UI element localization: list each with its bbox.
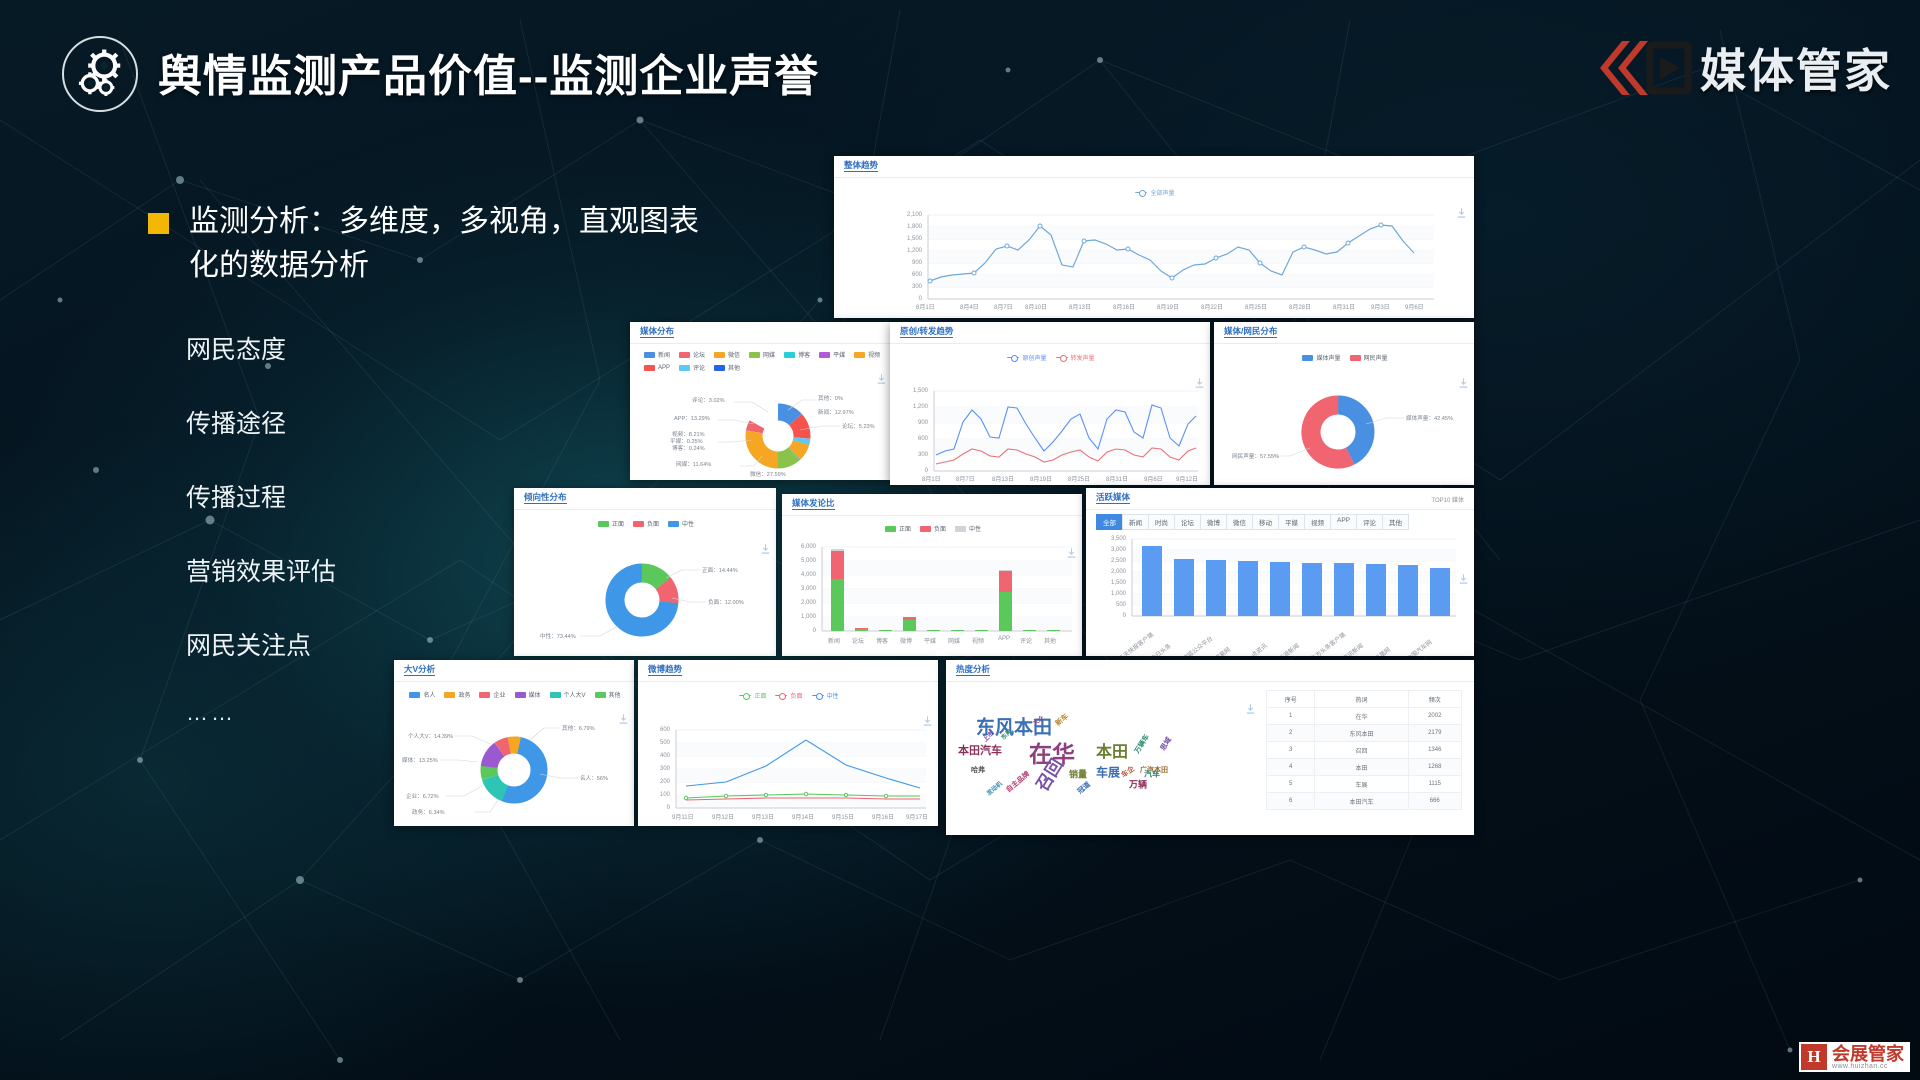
card-header: 活跃媒体 TOP10 媒体: [1086, 488, 1474, 510]
card-original-repost-trend: 原创/转发趋势 原创声量 转发声量 1,500 1,200 900 600 30…: [890, 322, 1210, 485]
hotword-table-wrap[interactable]: 序号 热词 频次 1在华20022东风本田21793召回13464本田12685…: [1266, 690, 1462, 810]
line-plot: [890, 344, 1210, 485]
double-chevron-logo-icon: [1600, 37, 1692, 99]
card-header: 微博趋势: [638, 660, 938, 682]
card-header: 媒体/网民分布: [1214, 322, 1474, 344]
cell-count: 666: [1408, 793, 1461, 810]
x-tick: 视频: [972, 636, 984, 645]
cell-count: 1346: [1408, 742, 1461, 759]
x-tick: 微博: [900, 636, 912, 645]
card-title: 媒体发论比: [792, 499, 835, 510]
cell-rank: 6: [1267, 793, 1315, 810]
card-active-media: 活跃媒体 TOP10 媒体 全部 新闻 时尚 论坛 微博 微信 移动 平媒 视频…: [1086, 488, 1474, 656]
wordcloud-word[interactable]: 车展: [1096, 764, 1120, 781]
cell-count: 1268: [1408, 759, 1461, 776]
x-tick: 8月31日: [1106, 474, 1128, 483]
x-tick: 8月7日: [956, 474, 975, 483]
sub-item-list: 网民态度 传播途径 传播过程 营销效果评估 网民关注点 ……: [186, 330, 336, 764]
x-tick: 8月13日: [992, 474, 1014, 483]
watermark-mark: H: [1801, 1044, 1827, 1070]
hotword-table: 序号 热词 频次 1在华20022东风本田21793召回13464本田12685…: [1266, 690, 1462, 810]
x-tick: 8月16日: [1113, 302, 1135, 311]
pie-label: APP：13.29%: [674, 414, 710, 422]
gears-icon: [62, 36, 138, 112]
pie-label: 评论：3.02%: [692, 396, 725, 404]
pie-label: 个人大V：14.39%: [408, 732, 453, 740]
line-plot: [834, 178, 1474, 318]
pie-label: 网民声量：57.55%: [1232, 452, 1279, 460]
pie-label: 中性：73.44%: [540, 632, 576, 640]
x-tick: APP: [998, 636, 1010, 642]
bullet-square-icon: [148, 213, 169, 234]
x-tick: 9月17日: [906, 812, 928, 821]
table-header-row: 序号 热词 频次: [1267, 691, 1462, 708]
cell-count: 2179: [1408, 725, 1461, 742]
pie-label: 正面：14.44%: [702, 566, 738, 574]
cell-rank: 1: [1267, 708, 1315, 725]
wordcloud-word[interactable]: 思域: [1158, 735, 1174, 752]
wordcloud-word[interactable]: 销量: [1069, 768, 1087, 781]
bullet-block: 监测分析：多维度，多视角，直观图表化的数据分析: [148, 200, 708, 288]
card-media-sentiment-compare: 媒体发论比 正面 负面 中性 6,000 5,000 4,000 3,000 2…: [782, 494, 1082, 656]
pie-label: 博客：0.24%: [672, 444, 705, 452]
x-tick: 8月10日: [1025, 302, 1047, 311]
col-rank: 序号: [1267, 691, 1315, 708]
download-icon[interactable]: [1246, 702, 1255, 713]
x-tick: 8月22日: [1201, 302, 1223, 311]
x-tick: 8月13日: [1069, 302, 1091, 311]
watermark: H 会展管家 www.huizhan.cc: [1799, 1042, 1910, 1072]
cell-word: 本田汽车: [1315, 793, 1408, 810]
list-item: 传播过程: [186, 478, 336, 514]
card-header: 大V分析: [394, 660, 634, 682]
wordcloud-word[interactable]: 广汽本田: [1140, 765, 1168, 775]
pie-label: 名人：56%: [580, 774, 608, 782]
list-item: 网民关注点: [186, 626, 336, 662]
cell-rank: 3: [1267, 742, 1315, 759]
card-media-distribution: 媒体分布 新闻 论坛 微信 网媒 博客 平媒 视频 APP 评论 其他: [630, 322, 892, 480]
card-sentiment-distribution: 倾向性分布 正面 负面 中性 正面：14.44% 负面：12.00% 中性：73…: [514, 488, 776, 656]
x-tick: 9月6日: [1144, 474, 1163, 483]
card-title: 微博趋势: [648, 665, 682, 676]
x-tick: 8月1日: [922, 474, 941, 483]
card-header: 媒体分布: [630, 322, 892, 344]
card-hotword-analysis: 热度分析 东风本田在华本田本田汽车召回车展销量万辆哈弗汽车广汽本田万辆车思域新车…: [946, 660, 1474, 835]
x-tick: 博客: [876, 636, 888, 645]
cell-word: 车展: [1315, 776, 1408, 793]
pie-label: 微信：27.59%: [750, 470, 786, 478]
card-bigv-analysis: 大V分析 名人 政务 企业 媒体 个人大V 其他: [394, 660, 634, 826]
pie-label: 网媒：11.64%: [676, 460, 711, 468]
pie-label: 企业：6.72%: [406, 792, 439, 800]
list-item: 网民态度: [186, 330, 336, 366]
wordcloud-word[interactable]: 哈弗: [971, 765, 985, 775]
table-row[interactable]: 1在华2002: [1267, 708, 1462, 725]
x-tick: 8月25日: [1068, 474, 1090, 483]
x-tick: 其他: [1044, 636, 1056, 645]
wordcloud-word[interactable]: 冠道: [1075, 780, 1092, 797]
card-header: 整体趋势: [834, 156, 1474, 178]
x-tick: 8月1日: [916, 302, 935, 311]
wordcloud-word[interactable]: 本田汽车: [958, 742, 1002, 758]
pie-label: 新闻：12.97%: [818, 408, 854, 416]
x-tick: 9月15日: [832, 812, 854, 821]
x-tick: 9月3日: [1371, 302, 1390, 311]
pie-label: 媒体：13.25%: [402, 756, 438, 764]
card-header: 热度分析: [946, 660, 1474, 682]
x-tick: 9月12日: [712, 812, 734, 821]
bullet-main-text: 监测分析：多维度，多视角，直观图表化的数据分析: [189, 200, 708, 288]
wordcloud-word[interactable]: 本田: [1096, 738, 1128, 762]
card-title: 媒体分布: [640, 327, 674, 338]
pie-label: 媒体声量：42.45%: [1406, 414, 1453, 422]
table-row[interactable]: 6本田汽车666: [1267, 793, 1462, 810]
wordcloud-word[interactable]: 新车: [1053, 712, 1070, 729]
card-title: 整体趋势: [844, 161, 878, 172]
cell-rank: 5: [1267, 776, 1315, 793]
x-tick: 9月13日: [752, 812, 774, 821]
card-title: 媒体/网民分布: [1224, 327, 1277, 338]
x-tick: 8月19日: [1157, 302, 1179, 311]
x-tick: 8月25日: [1245, 302, 1267, 311]
wordcloud: 东风本田在华本田本田汽车召回车展销量万辆哈弗汽车广汽本田万辆车思域新车自主品牌发…: [946, 682, 1236, 835]
x-tick: 8月7日: [994, 302, 1013, 311]
cell-count: 1115: [1408, 776, 1461, 793]
list-item: 传播途径: [186, 404, 336, 440]
table-row[interactable]: 4本田1268: [1267, 759, 1462, 776]
x-tick: 9月11日: [672, 812, 694, 821]
list-item: 营销效果评估: [186, 552, 336, 588]
card-title: 活跃媒体: [1096, 493, 1130, 504]
cell-word: 本田: [1315, 759, 1408, 776]
brand-logo: 媒体管家: [1600, 26, 1892, 110]
card-weibo-trend: 微博趋势 正面 负面 中性 600 500 400 300 200 100 0: [638, 660, 938, 826]
x-tick: 平媒: [924, 636, 936, 645]
x-tick: 9月14日: [792, 812, 814, 821]
x-tick: 网媒: [948, 636, 960, 645]
cell-word: 在华: [1315, 708, 1408, 725]
slide-header: 舆情监测产品价值--监测企业声誉 媒体管家: [0, 0, 1920, 148]
cell-count: 2002: [1408, 708, 1461, 725]
cell-rank: 4: [1267, 759, 1315, 776]
page-title: 舆情监测产品价值--监测企业声誉: [158, 40, 819, 104]
card-header: 媒体发论比: [782, 494, 1082, 516]
card-title: 原创/转发趋势: [900, 327, 953, 338]
x-tick: 8月28日: [1289, 302, 1311, 311]
x-tick: 新闻: [828, 636, 840, 645]
wordcloud-word[interactable]: 发动机: [984, 779, 1004, 797]
pie-label: 其他：6.79%: [562, 724, 595, 732]
line-plot: [638, 682, 938, 826]
x-tick: 8月19日: [1030, 474, 1052, 483]
x-tick: 论坛: [852, 636, 864, 645]
pie-label: 政务：6.34%: [412, 808, 445, 816]
card-overall-trend: 整体趋势 全部声量 2,100 1,800 1,500 1,200 900 60…: [834, 156, 1474, 318]
card-title: 大V分析: [404, 665, 435, 676]
card-header: 原创/转发趋势: [890, 322, 1210, 344]
x-tick: 9月12日: [1176, 474, 1198, 483]
x-tick: 8月4日: [960, 302, 979, 311]
x-tick: 9月16日: [872, 812, 894, 821]
pie-label: 论坛：5.23%: [842, 422, 875, 430]
card-header: 倾向性分布: [514, 488, 776, 510]
brand-name: 媒体管家: [1700, 35, 1892, 101]
card-title: 热度分析: [956, 665, 990, 676]
table-row[interactable]: 2东风本田2179: [1267, 725, 1462, 742]
bar-plot: [782, 516, 1082, 656]
col-word: 热词: [1315, 691, 1408, 708]
x-tick: 评论: [1020, 636, 1032, 645]
cell-word: 召回: [1315, 742, 1408, 759]
donut-plot: [394, 682, 634, 826]
watermark-text: 会展管家: [1832, 1045, 1904, 1063]
pie-label: 负面：12.00%: [708, 598, 744, 606]
x-tick: 8月31日: [1333, 302, 1355, 311]
top10-label: TOP10 媒体: [1431, 495, 1464, 504]
pie-label: 其他：0%: [818, 394, 843, 402]
table-row[interactable]: 5车展1115: [1267, 776, 1462, 793]
wordcloud-word[interactable]: 万辆车: [1132, 732, 1152, 755]
card-media-netizen-distribution: 媒体/网民分布 媒体声量 网民声量 媒体声量：42.45% 网民声量：57.55…: [1214, 322, 1474, 485]
cell-rank: 2: [1267, 725, 1315, 742]
card-title: 倾向性分布: [524, 493, 567, 504]
x-tick: 9月6日: [1405, 302, 1424, 311]
list-item: ……: [186, 700, 336, 726]
table-row[interactable]: 3召回1346: [1267, 742, 1462, 759]
col-count: 频次: [1408, 691, 1461, 708]
cell-word: 东风本田: [1315, 725, 1408, 742]
watermark-sub: www.huizhan.cc: [1832, 1063, 1904, 1070]
